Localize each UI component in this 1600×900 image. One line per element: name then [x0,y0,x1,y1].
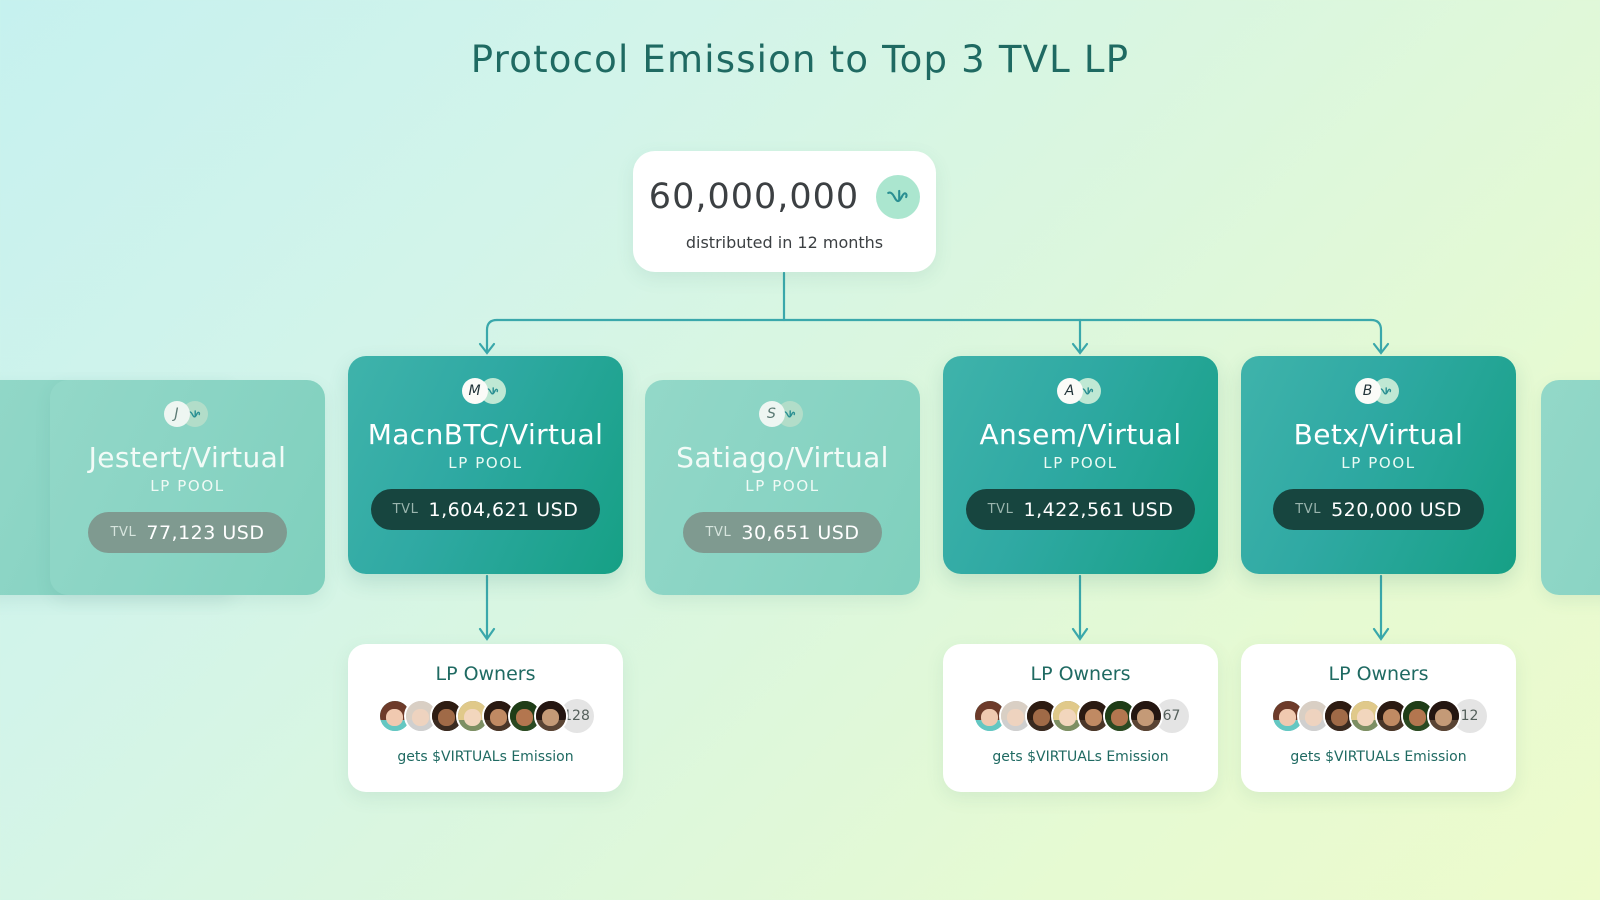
tvl-label: TVL [393,502,419,517]
pool-card-edge-right-partial[interactable]: M [1541,380,1600,595]
tvl-label: TVL [1295,502,1321,517]
avatar-group[interactable]: 67 [973,699,1189,733]
pool-name: Betx/Virtual [1294,418,1464,451]
pool-pair-badges: J [164,401,212,427]
tvl-value: 30,651 USD [741,522,859,544]
tvl-value: 77,123 USD [146,522,264,544]
pool-card-ansem[interactable]: AAnsem/VirtualLP POOLTVL1,422,561 USD [943,356,1218,574]
pool-card-betx[interactable]: BBetx/VirtualLP POOLTVL520,000 USD [1241,356,1516,574]
lp-owners-title: LP Owners [435,663,535,685]
pool-token-initial: J [174,406,178,422]
pool-token-initial: A [1065,383,1075,399]
pool-name: Jestert/Virtual [89,441,287,474]
avatar-group[interactable]: 128 [378,699,594,733]
tvl-pill: TVL30,651 USD [683,512,881,553]
avatar[interactable] [1427,699,1461,733]
lp-owners-card: LP Owners67gets $VIRTUALs Emission [943,644,1218,792]
emission-subtitle: distributed in 12 months [686,233,883,252]
pool-token-initial: S [767,406,776,422]
lp-owners-footer: gets $VIRTUALs Emission [397,749,573,765]
tvl-pill: TVL1,422,561 USD [966,489,1196,530]
pool-token-initial-badge: S [759,401,785,427]
virtuals-v-icon [876,175,920,219]
page-title: Protocol Emission to Top 3 TVL LP [0,38,1600,81]
pool-type-label: LP POOL [448,454,522,472]
lp-owners-footer: gets $VIRTUALs Emission [1290,749,1466,765]
avatar[interactable] [534,699,568,733]
pool-pair-badges: S [759,401,807,427]
tvl-label: TVL [705,525,731,540]
emission-amount: 60,000,000 [649,177,859,217]
pool-name: MacnBTC/Virtual [368,418,604,451]
pool-type-label: LP POOL [150,477,224,495]
pool-pair-badges: A [1057,378,1105,404]
pool-token-initial: M [468,383,480,399]
pool-name: Satiago/Virtual [676,441,889,474]
lp-owners-footer: gets $VIRTUALs Emission [992,749,1168,765]
tvl-pill: TVL520,000 USD [1273,489,1484,530]
pool-pair-badges: M [462,378,510,404]
lp-owners-title: LP Owners [1328,663,1428,685]
pool-name: Ansem/Virtual [979,418,1181,451]
pool-token-initial: B [1363,383,1373,399]
tvl-value: 1,604,621 USD [429,499,579,521]
pool-type-label: LP POOL [1341,454,1415,472]
tvl-label: TVL [988,502,1014,517]
pool-pair-badges: B [1355,378,1403,404]
lp-owners-card: LP Owners12gets $VIRTUALs Emission [1241,644,1516,792]
tvl-pill: TVL1,604,621 USD [371,489,601,530]
tvl-value: 520,000 USD [1331,499,1462,521]
tvl-label: TVL [110,525,136,540]
emission-card: 60,000,000 distributed in 12 months [633,151,936,272]
pool-token-initial-badge: M [462,378,488,404]
pool-card-satiago[interactable]: SSatiago/VirtualLP POOLTVL30,651 USD [645,380,920,595]
avatar-group[interactable]: 12 [1271,699,1487,733]
pool-token-initial-badge: B [1355,378,1381,404]
pool-type-label: LP POOL [745,477,819,495]
pool-card-jestert[interactable]: JJestert/VirtualLP POOLTVL77,123 USD [50,380,325,595]
lp-owners-title: LP Owners [1030,663,1130,685]
tvl-pill: TVL77,123 USD [88,512,286,553]
emission-amount-row: 60,000,000 [649,175,920,219]
pool-type-label: LP POOL [1043,454,1117,472]
tvl-value: 1,422,561 USD [1024,499,1174,521]
lp-owners-card: LP Owners128gets $VIRTUALs Emission [348,644,623,792]
pool-token-initial-badge: J [164,401,190,427]
avatar[interactable] [1129,699,1163,733]
pool-token-initial-badge: A [1057,378,1083,404]
pool-card-macnbtc[interactable]: MMacnBTC/VirtualLP POOLTVL1,604,621 USD [348,356,623,574]
